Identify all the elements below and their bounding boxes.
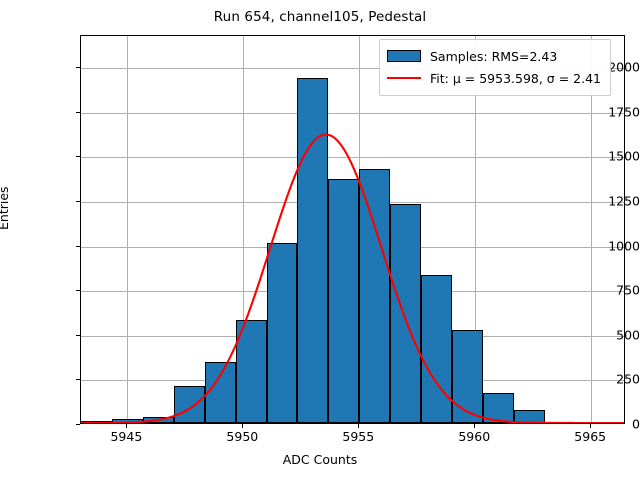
y-tick-mark bbox=[76, 424, 80, 425]
x-tick-mark bbox=[242, 424, 243, 428]
y-tick-label: 1250 bbox=[574, 193, 640, 208]
y-tick-mark bbox=[76, 201, 80, 202]
histogram-bar bbox=[452, 330, 483, 423]
y-tick-mark bbox=[76, 156, 80, 157]
y-tick-label: 1000 bbox=[574, 238, 640, 253]
histogram-bar bbox=[297, 78, 328, 423]
x-tick-label: 5960 bbox=[434, 429, 514, 444]
x-tick-label: 5955 bbox=[318, 429, 398, 444]
histogram-bar bbox=[81, 421, 112, 423]
y-tick-label: 1500 bbox=[574, 149, 640, 164]
chart-title: Run 654, channel105, Pedestal bbox=[0, 9, 640, 25]
gridline-horizontal bbox=[81, 157, 624, 158]
histogram-bar bbox=[483, 393, 514, 423]
figure-canvas: Run 654, channel105, Pedestal 0250500750… bbox=[0, 0, 640, 480]
histogram-bar bbox=[390, 204, 421, 423]
x-tick-mark bbox=[590, 424, 591, 428]
histogram-bar bbox=[328, 179, 359, 423]
y-tick-mark bbox=[76, 379, 80, 380]
y-tick-mark bbox=[76, 67, 80, 68]
histogram-bar bbox=[174, 386, 205, 423]
y-tick-mark bbox=[76, 335, 80, 336]
legend-label-samples: Samples: RMS=2.43 bbox=[430, 49, 557, 64]
x-tick-label: 5945 bbox=[86, 429, 166, 444]
x-tick-label: 5950 bbox=[202, 429, 282, 444]
y-tick-label: 500 bbox=[574, 327, 640, 342]
gridline-vertical bbox=[127, 36, 128, 423]
legend-entry-fit: Fit: μ = 5953.598, σ = 2.41 bbox=[387, 67, 601, 89]
y-tick-mark bbox=[76, 112, 80, 113]
y-tick-label: 1750 bbox=[574, 104, 640, 119]
histogram-bar bbox=[205, 362, 236, 423]
x-tick-mark bbox=[358, 424, 359, 428]
histogram-bar bbox=[421, 275, 452, 423]
y-tick-label: 250 bbox=[574, 372, 640, 387]
y-tick-mark bbox=[76, 290, 80, 291]
histogram-bar bbox=[112, 419, 143, 423]
y-axis-label: Entries bbox=[0, 186, 11, 230]
x-tick-label: 5965 bbox=[550, 429, 630, 444]
legend-label-fit: Fit: μ = 5953.598, σ = 2.41 bbox=[430, 71, 601, 86]
histogram-bar bbox=[267, 243, 298, 423]
histogram-bar bbox=[143, 417, 174, 423]
chart-legend: Samples: RMS=2.43 Fit: μ = 5953.598, σ =… bbox=[379, 39, 611, 96]
x-axis-label: ADC Counts bbox=[0, 452, 640, 467]
x-tick-mark bbox=[474, 424, 475, 428]
histogram-bar bbox=[359, 169, 390, 423]
legend-entry-samples: Samples: RMS=2.43 bbox=[387, 45, 601, 67]
y-tick-mark bbox=[76, 246, 80, 247]
histogram-bar bbox=[236, 320, 267, 423]
x-tick-mark bbox=[126, 424, 127, 428]
legend-line-icon bbox=[387, 72, 421, 84]
gridline-horizontal bbox=[81, 113, 624, 114]
y-tick-label: 750 bbox=[574, 283, 640, 298]
legend-patch-icon bbox=[387, 50, 421, 62]
histogram-bar bbox=[514, 410, 545, 423]
